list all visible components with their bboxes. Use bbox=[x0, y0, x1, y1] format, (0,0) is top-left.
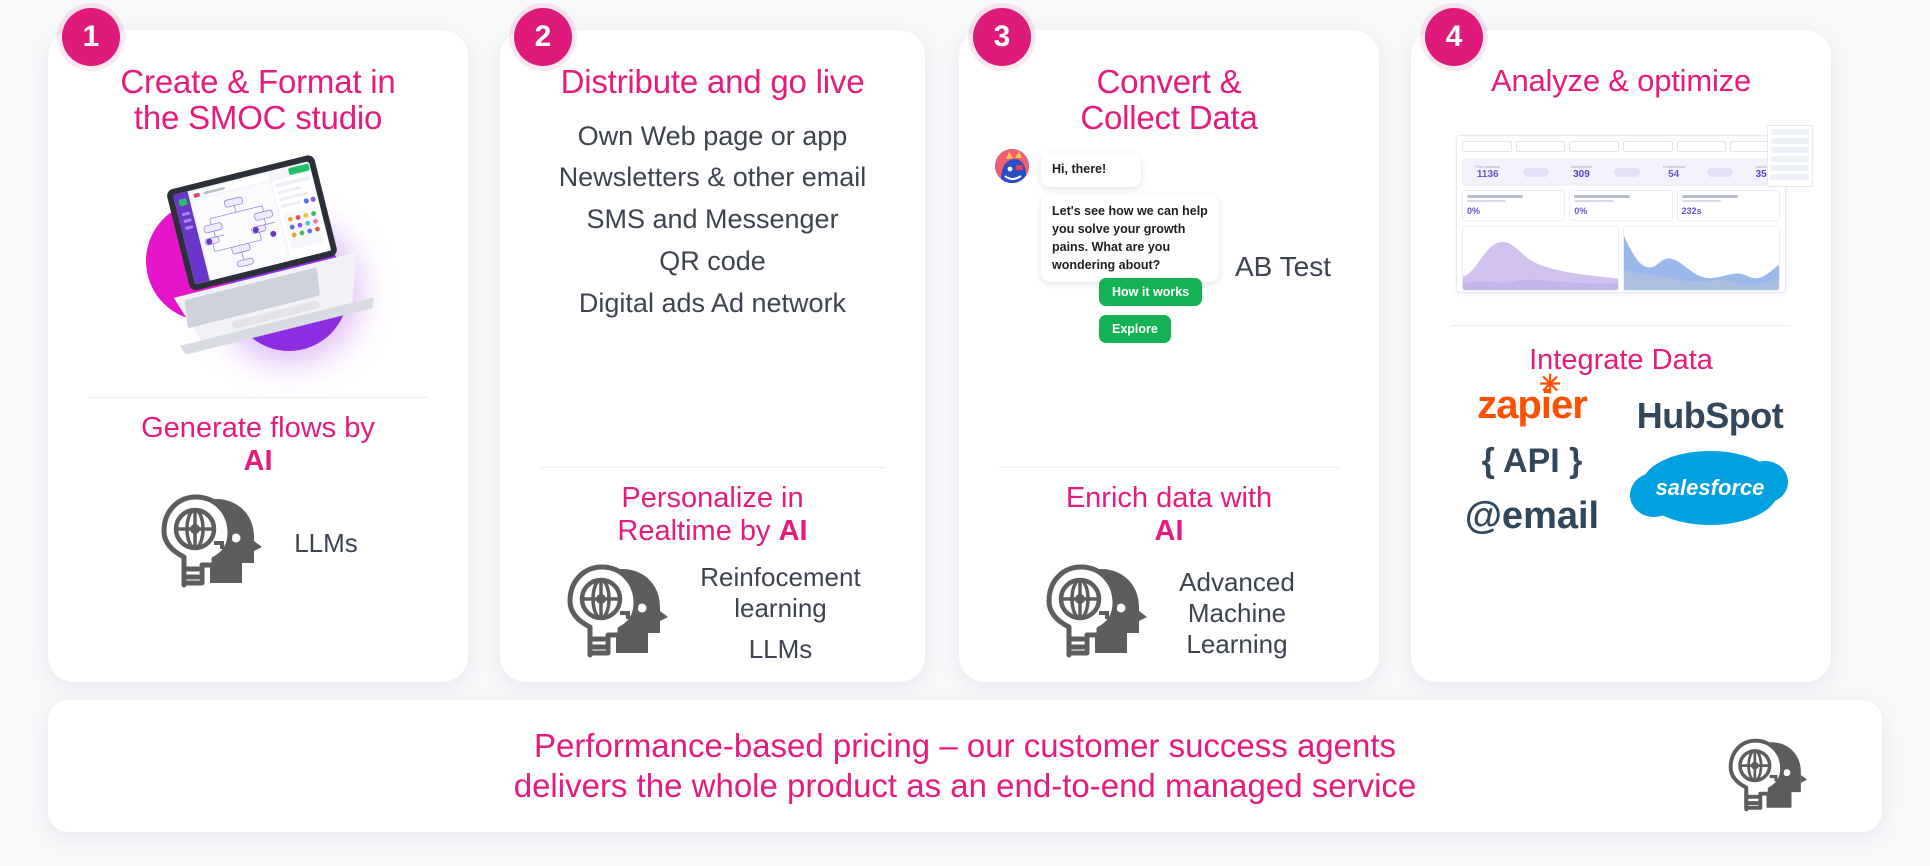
card-3-ai-label: AI bbox=[1155, 515, 1184, 547]
card-2-ai-labels: Reinfocement learning LLMs bbox=[700, 562, 860, 664]
filter-field[interactable] bbox=[1462, 141, 1512, 152]
list-item: Newsletters & other email bbox=[514, 157, 911, 199]
step-card-4[interactable]: 4 Analyze & optimize Flow sessions bbox=[1411, 30, 1831, 682]
chat-message-2: Let's see how we can help you solve your… bbox=[1041, 195, 1219, 282]
dashboard-filters bbox=[1457, 136, 1785, 156]
card-3-subtitle-text: Enrich data with bbox=[1066, 482, 1272, 514]
kpi-item: Completions 54 bbox=[1663, 164, 1685, 180]
list-item: QR code bbox=[514, 241, 911, 283]
dashboard-mock: Flow sessions 1136 Interactions 309 Comp… bbox=[1456, 135, 1786, 293]
card-2-subtitle-line1: Personalize in bbox=[621, 482, 803, 514]
metric-value: 232s bbox=[1682, 206, 1775, 216]
card-3-title-line1: Convert & bbox=[973, 64, 1365, 100]
card-2-subtitle: Personalize in Realtime by AI bbox=[514, 482, 911, 547]
country-dropdown[interactable] bbox=[1767, 135, 1786, 187]
card-2-title: Distribute and go live bbox=[514, 64, 911, 100]
logo-column-left: zapier ✳ { API } @email bbox=[1443, 383, 1621, 538]
api-logo: { API } bbox=[1482, 442, 1583, 481]
infographic-stage: 1 Create & Format in the SMOC studio bbox=[0, 0, 1930, 866]
filter-field[interactable] bbox=[1569, 141, 1619, 152]
salesforce-logo-text: salesforce bbox=[1656, 475, 1765, 501]
step-card-1[interactable]: 1 Create & Format in the SMOC studio bbox=[48, 30, 468, 682]
chat-avatar bbox=[995, 149, 1029, 183]
step-card-2[interactable]: 2 Distribute and go live Own Web page or… bbox=[500, 30, 925, 682]
banner-line-1: Performance-based pricing – our customer… bbox=[514, 726, 1417, 766]
filter-field[interactable] bbox=[1516, 141, 1566, 152]
list-item: Digital ads Ad network bbox=[514, 283, 911, 325]
integration-logos: zapier ✳ { API } @email HubSpot salesfor… bbox=[1425, 383, 1817, 538]
card-2-channel-list: Own Web page or app Newsletters & other … bbox=[514, 116, 911, 325]
chat-widget-illustration: Hi, there! Let's see how we can help you… bbox=[973, 143, 1365, 353]
card-1-ai-labels: LLMs bbox=[294, 528, 358, 559]
card-4-subtitle: Integrate Data bbox=[1425, 344, 1817, 376]
metric-card: 0% bbox=[1462, 190, 1565, 221]
kpi-pill bbox=[1614, 168, 1640, 177]
kpi-pill bbox=[1523, 168, 1549, 177]
card-2-ai-row: Reinfocement learning LLMs bbox=[514, 561, 911, 666]
kpi-item: Leads 35 bbox=[1756, 164, 1767, 180]
ab-test-label: AB Test bbox=[1235, 251, 1331, 283]
dashboard-metric-cards: 0% 0% 232s bbox=[1462, 190, 1780, 221]
card-3-divider bbox=[999, 467, 1339, 468]
logo-column-right: HubSpot salesforce bbox=[1621, 395, 1799, 525]
pricing-banner: Performance-based pricing – our customer… bbox=[48, 700, 1882, 832]
ai-head-icon bbox=[564, 561, 682, 666]
step-badge-2: 2 bbox=[514, 8, 572, 66]
step-badge-4: 4 bbox=[1425, 8, 1483, 66]
card-4-divider bbox=[1451, 325, 1791, 326]
card-3-subtitle: Enrich data with AI bbox=[973, 482, 1365, 547]
kpi-value: 309 bbox=[1571, 169, 1592, 180]
hubspot-logo: HubSpot bbox=[1637, 395, 1783, 437]
chat-message-1: Hi, there! bbox=[1041, 153, 1141, 187]
kpi-value: 54 bbox=[1663, 169, 1685, 180]
card-2-ai-label-3: LLMs bbox=[700, 634, 860, 665]
ai-head-icon bbox=[1724, 736, 1820, 819]
card-3-title-line2: Collect Data bbox=[973, 100, 1365, 136]
email-logo: @email bbox=[1465, 495, 1599, 538]
kpi-item: Interactions 309 bbox=[1571, 164, 1592, 180]
ai-head-icon bbox=[1043, 561, 1161, 666]
analytics-dashboard-illustration: Flow sessions 1136 Interactions 309 Comp… bbox=[1425, 109, 1817, 319]
filter-field[interactable] bbox=[1623, 141, 1673, 152]
card-2-divider bbox=[540, 467, 885, 468]
hubspot-logo-text: HubSpot bbox=[1637, 395, 1783, 436]
kpi-item: Flow sessions 1136 bbox=[1475, 164, 1500, 180]
dashboard-kpis: Flow sessions 1136 Interactions 309 Comp… bbox=[1462, 158, 1780, 186]
card-3-ai-label-3: Learning bbox=[1179, 629, 1295, 660]
leads-chart bbox=[1623, 226, 1780, 291]
cards-row: 1 Create & Format in the SMOC studio bbox=[0, 30, 1930, 682]
card-1-divider bbox=[88, 397, 428, 398]
list-item: SMS and Messenger bbox=[514, 199, 911, 241]
dashboard-charts bbox=[1462, 226, 1780, 291]
explore-button[interactable]: Explore bbox=[1099, 315, 1171, 343]
banner-text: Performance-based pricing – our customer… bbox=[514, 726, 1417, 805]
card-1-title: Create & Format in the SMOC studio bbox=[62, 64, 454, 135]
metric-value: 0% bbox=[1574, 206, 1667, 216]
card-1-subtitle: Generate flows by AI bbox=[62, 412, 454, 477]
card-1-subtitle-text: Generate flows by bbox=[141, 412, 375, 444]
card-1-ai-row: LLMs bbox=[62, 491, 454, 596]
card-3-ai-labels: Advanced Machine Learning bbox=[1179, 567, 1295, 659]
zapier-logo: zapier ✳ bbox=[1477, 383, 1587, 428]
zapier-asterisk-icon: ✳ bbox=[1539, 369, 1560, 400]
card-1-title-line1: Create & Format in bbox=[62, 64, 454, 100]
card-1-ai-label-llms: LLMs bbox=[294, 528, 358, 559]
card-2-subtitle-line2: Realtime by bbox=[617, 515, 770, 547]
zapier-logo-text: zapier bbox=[1477, 383, 1587, 427]
step-card-3[interactable]: 3 Convert & Collect Data bbox=[959, 30, 1379, 682]
kpi-value: 35 bbox=[1756, 169, 1767, 180]
step-badge-1: 1 bbox=[62, 8, 120, 66]
how-it-works-button[interactable]: How it works bbox=[1099, 278, 1202, 306]
metric-card: 0% bbox=[1569, 190, 1672, 221]
card-1-title-line2: the SMOC studio bbox=[62, 100, 454, 136]
laptop-illustration bbox=[62, 141, 454, 391]
laptop-icon bbox=[140, 144, 386, 365]
metric-card: 232s bbox=[1677, 190, 1780, 221]
card-2-ai-label-2: learning bbox=[700, 593, 860, 624]
list-item: Own Web page or app bbox=[514, 116, 911, 158]
metric-value: 0% bbox=[1467, 206, 1560, 216]
kpi-pill bbox=[1707, 168, 1733, 177]
card-3-ai-label-1: Advanced bbox=[1179, 567, 1295, 598]
card-3-title: Convert & Collect Data bbox=[973, 64, 1365, 135]
card-3-ai-label-2: Machine bbox=[1179, 598, 1295, 629]
ai-head-icon bbox=[158, 491, 276, 596]
card-1-ai-label: AI bbox=[244, 445, 273, 477]
salesforce-logo: salesforce bbox=[1642, 451, 1778, 525]
card-4-title: Analyze & optimize bbox=[1425, 64, 1817, 97]
step-badge-3: 3 bbox=[973, 8, 1031, 66]
card-2-ai-label: AI bbox=[779, 515, 808, 547]
flow-sessions-chart bbox=[1462, 226, 1619, 291]
kpi-value: 1136 bbox=[1475, 169, 1500, 180]
card-2-ai-label-1: Reinfocement bbox=[700, 562, 860, 593]
card-3-ai-row: Advanced Machine Learning bbox=[973, 561, 1365, 666]
filter-field[interactable] bbox=[1677, 141, 1727, 152]
banner-line-2: delivers the whole product as an end-to-… bbox=[514, 766, 1417, 806]
